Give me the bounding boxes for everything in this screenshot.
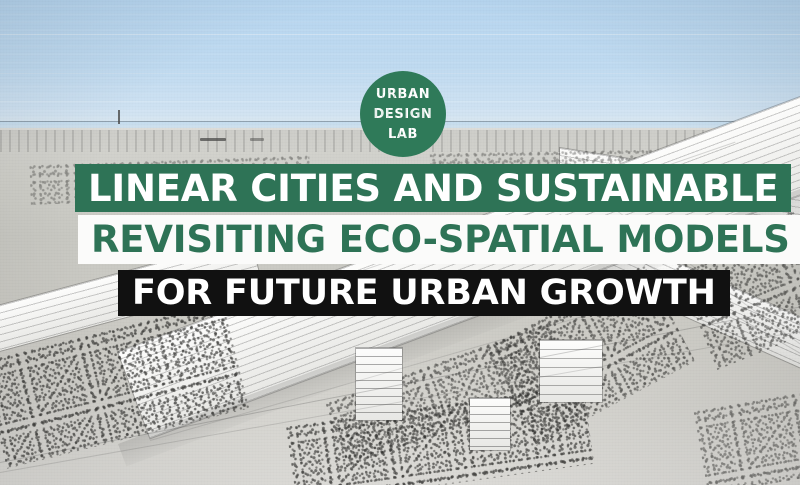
title-banner-line-1: LINEAR CITIES AND SUSTAINABLE xyxy=(75,164,791,212)
title-banner-line-2: REVISITING ECO-SPATIAL MODELS xyxy=(78,215,800,264)
urban-design-lab-logo[interactable]: URBAN DESIGN LAB xyxy=(360,71,446,157)
stair-tower-lower xyxy=(470,398,510,450)
stair-treads xyxy=(470,398,510,450)
title-banner-line-3: FOR FUTURE URBAN GROWTH xyxy=(118,270,730,316)
distant-lighthouse xyxy=(118,110,120,124)
logo-line-lab: LAB xyxy=(388,128,418,141)
distant-vessel xyxy=(200,138,226,141)
sky-streak xyxy=(0,34,800,35)
logo-line-urban: URBAN xyxy=(376,88,430,101)
logo-line-design: DESIGN xyxy=(373,108,432,121)
article-hero-banner: URBAN DESIGN LAB LINEAR CITIES AND SUSTA… xyxy=(0,0,800,485)
distant-vessel xyxy=(250,138,264,141)
stair-tower xyxy=(356,348,402,420)
stair-treads xyxy=(356,348,402,420)
